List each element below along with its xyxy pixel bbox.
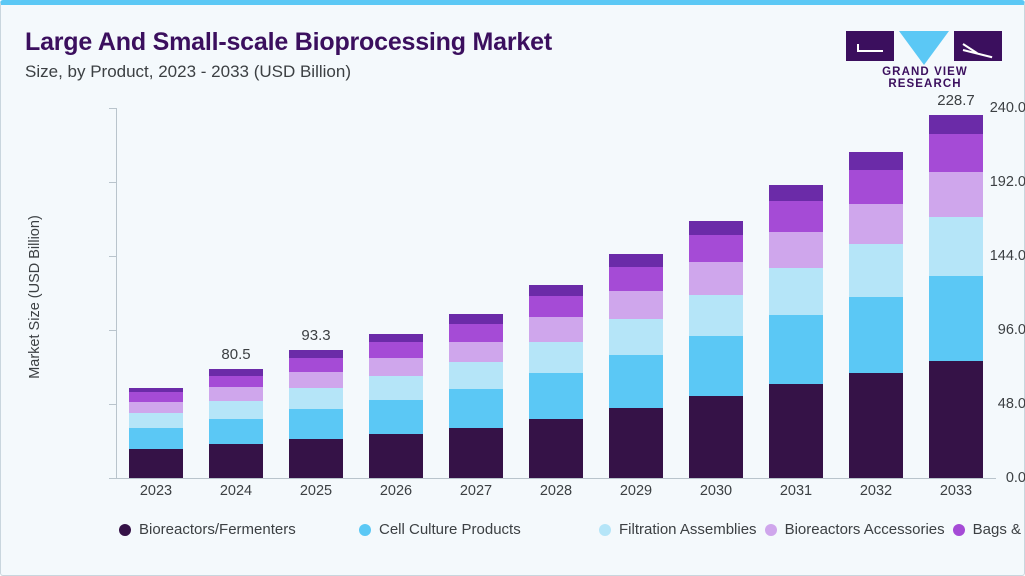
bar-segment[interactable] — [369, 400, 423, 434]
bar-segment[interactable] — [529, 419, 583, 478]
bar-segment[interactable] — [929, 172, 983, 217]
bar-segment[interactable] — [209, 376, 263, 388]
bar-column[interactable] — [369, 93, 423, 478]
bar-column[interactable] — [609, 93, 663, 478]
x-axis-tick-label: 2029 — [609, 483, 663, 509]
legend-item[interactable]: Bags & Containers — [953, 518, 1025, 541]
x-axis-tick-label: 2032 — [849, 483, 903, 509]
page-title: Large And Small-scale Bioprocessing Mark… — [25, 28, 552, 57]
bar-stack — [209, 369, 263, 478]
bar-segment[interactable] — [689, 396, 743, 478]
bar-segment[interactable] — [209, 419, 263, 444]
chart-header: Large And Small-scale Bioprocessing Mark… — [1, 5, 1025, 93]
x-axis-tick-label: 2028 — [529, 483, 583, 509]
bar-column[interactable] — [449, 93, 503, 478]
bar-stack — [449, 314, 503, 478]
bar-column[interactable]: 80.5 — [209, 93, 263, 478]
bar-segment[interactable] — [449, 342, 503, 363]
logo-angle-horizontal — [857, 50, 883, 52]
bar-segment[interactable] — [289, 439, 343, 478]
x-axis-ticks: 2023202420252026202720282029203020312032… — [116, 483, 996, 509]
bar-segment[interactable] — [529, 296, 583, 317]
bar-segment[interactable] — [129, 392, 183, 401]
bar-value-label: 80.5 — [221, 346, 250, 363]
x-axis-tick-label: 2030 — [689, 483, 743, 509]
legend-label: Bioreactors Accessories — [785, 521, 945, 538]
bar-segment[interactable] — [449, 389, 503, 428]
logo-triangle-icon — [899, 31, 949, 65]
bar-column[interactable] — [849, 93, 903, 478]
logo-diagonal-one — [963, 49, 993, 58]
legend-swatch-icon — [599, 524, 611, 536]
bar-segment[interactable] — [129, 449, 183, 478]
legend-swatch-icon — [953, 524, 965, 536]
x-axis-tick-label: 2023 — [129, 483, 183, 509]
logo-marks — [846, 31, 1004, 61]
bar-value-label: 93.3 — [301, 327, 330, 344]
x-axis-line — [116, 478, 996, 479]
bar-segment[interactable] — [289, 388, 343, 409]
bar-column[interactable] — [529, 93, 583, 478]
bar-segment[interactable] — [289, 358, 343, 372]
bar-stack — [849, 152, 903, 478]
bar-column[interactable] — [129, 93, 183, 478]
legend-item[interactable]: Filtration Assemblies — [599, 518, 757, 541]
bar-segment[interactable] — [929, 361, 983, 478]
legend-swatch-icon — [119, 524, 131, 536]
bar-segment[interactable] — [769, 268, 823, 315]
bar-segment[interactable] — [609, 355, 663, 407]
x-axis-tick-label: 2031 — [769, 483, 823, 509]
bar-segment[interactable] — [609, 267, 663, 291]
bar-segment[interactable] — [129, 402, 183, 414]
bar-column[interactable] — [689, 93, 743, 478]
bar-segment[interactable] — [129, 413, 183, 428]
x-axis-tick-label: 2025 — [289, 483, 343, 509]
y-axis-tick-mark — [109, 330, 116, 331]
x-axis-tick-label: 2027 — [449, 483, 503, 509]
bar-segment[interactable] — [449, 428, 503, 478]
bar-segment[interactable] — [689, 336, 743, 396]
bar-segment[interactable] — [449, 362, 503, 389]
x-axis-tick-label: 2033 — [929, 483, 983, 509]
legend-label: Bioreactors/Fermenters — [139, 521, 296, 538]
bar-segment[interactable] — [769, 185, 823, 201]
bar-column[interactable]: 228.7 — [929, 93, 983, 478]
bar-segment[interactable] — [529, 317, 583, 342]
bar-segment[interactable] — [929, 134, 983, 172]
bar-segment[interactable] — [769, 315, 823, 384]
bar-stack — [529, 285, 583, 478]
legend-item[interactable]: Bioreactors/Fermenters — [119, 518, 351, 541]
y-axis-tick-mark — [109, 182, 116, 183]
legend-label: Filtration Assemblies — [619, 521, 757, 538]
bar-segment[interactable] — [849, 297, 903, 373]
bar-stack — [929, 115, 983, 478]
bar-segment[interactable] — [609, 254, 663, 267]
bar-segment[interactable] — [689, 262, 743, 294]
legend-label: Cell Culture Products — [379, 521, 521, 538]
bar-stack — [689, 221, 743, 478]
bar-column[interactable] — [769, 93, 823, 478]
bar-segment[interactable] — [849, 170, 903, 204]
bar-stack — [609, 254, 663, 478]
x-axis-tick-label: 2024 — [209, 483, 263, 509]
bar-segment[interactable] — [769, 232, 823, 268]
stacked-bar-series: 80.593.3228.7 — [116, 93, 996, 478]
bar-segment[interactable] — [849, 152, 903, 170]
bar-segment[interactable] — [369, 434, 423, 478]
bar-segment[interactable] — [769, 384, 823, 478]
bar-segment[interactable] — [289, 409, 343, 439]
bar-segment[interactable] — [689, 295, 743, 337]
bar-segment[interactable] — [369, 358, 423, 377]
bar-stack — [289, 350, 343, 478]
chart-legend: Bioreactors/FermentersCell Culture Produ… — [119, 518, 909, 541]
bar-stack — [129, 388, 183, 478]
bar-segment[interactable] — [929, 115, 983, 135]
y-axis-tick-mark — [109, 404, 116, 405]
legend-label: Bags & Containers — [973, 521, 1025, 538]
bar-stack — [769, 185, 823, 478]
bar-segment[interactable] — [609, 291, 663, 320]
bar-column[interactable]: 93.3 — [289, 93, 343, 478]
logo-box-right-icon — [954, 31, 1002, 61]
bar-segment[interactable] — [289, 372, 343, 388]
bar-segment[interactable] — [369, 376, 423, 400]
bar-segment[interactable] — [609, 408, 663, 478]
bar-segment[interactable] — [129, 428, 183, 450]
logo-box-left-icon — [846, 31, 894, 61]
bar-segment[interactable] — [369, 334, 423, 342]
bar-segment[interactable] — [449, 314, 503, 324]
bar-segment[interactable] — [849, 373, 903, 478]
bar-segment[interactable] — [369, 342, 423, 357]
chart-card: Large And Small-scale Bioprocessing Mark… — [0, 0, 1025, 576]
bar-value-label: 228.7 — [937, 92, 975, 109]
bar-segment[interactable] — [529, 342, 583, 374]
bar-segment[interactable] — [289, 350, 343, 357]
bar-stack — [369, 334, 423, 478]
bar-segment[interactable] — [609, 319, 663, 355]
bar-segment[interactable] — [849, 204, 903, 245]
logo-text: GRAND VIEW RESEARCH — [846, 66, 1004, 90]
y-axis-tick-mark — [109, 256, 116, 257]
bar-segment[interactable] — [209, 444, 263, 478]
bar-segment[interactable] — [689, 235, 743, 262]
legend-swatch-icon — [765, 524, 777, 536]
chart-plot-area: Market Size (USD Billion) 0.048.096.0144… — [1, 93, 1025, 576]
x-axis-tick-label: 2026 — [369, 483, 423, 509]
bar-segment[interactable] — [769, 201, 823, 232]
bar-segment[interactable] — [929, 276, 983, 361]
bar-segment[interactable] — [929, 217, 983, 276]
bar-segment[interactable] — [529, 373, 583, 418]
legend-swatch-icon — [359, 524, 371, 536]
legend-item[interactable]: Cell Culture Products — [359, 518, 591, 541]
y-axis-tick-mark — [109, 478, 116, 479]
bar-segment[interactable] — [209, 401, 263, 419]
bar-segment[interactable] — [689, 221, 743, 235]
page-subtitle: Size, by Product, 2023 - 2033 (USD Billi… — [25, 62, 351, 82]
grand-view-research-logo: GRAND VIEW RESEARCH — [846, 31, 1004, 81]
legend-item[interactable]: Bioreactors Accessories — [765, 518, 945, 541]
y-axis-title: Market Size (USD Billion) — [27, 167, 43, 427]
y-axis-tick-mark — [109, 108, 116, 109]
bar-segment[interactable] — [449, 324, 503, 342]
bar-segment[interactable] — [529, 285, 583, 296]
bar-segment[interactable] — [209, 387, 263, 401]
bar-segment[interactable] — [849, 244, 903, 296]
logo-angle-vertical — [857, 44, 859, 52]
